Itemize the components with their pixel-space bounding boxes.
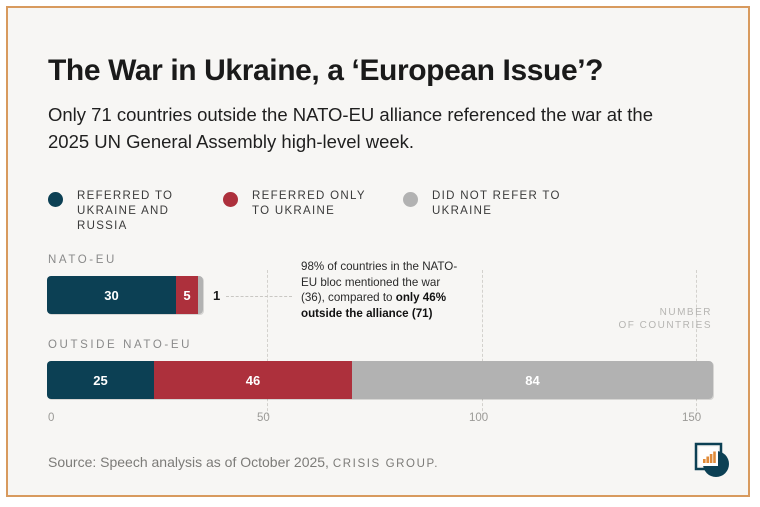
source-brand: Crisis Group. [333,458,439,470]
source-note: Source: Speech analysis as of October 20… [48,454,439,470]
source-text: Source: Speech analysis as of October 20… [48,454,329,470]
axis-tick-50: 50 [257,412,270,424]
annotation-line-1: 98% of countries in the [301,260,419,273]
axis-title-line-1: Number [618,306,712,319]
bar-segment-referred-ukraine-russia: 25 [47,361,154,399]
axis-tick-150: 150 [682,412,701,424]
infographic-frame: The War in Ukraine, a ‘European Issue’? … [6,6,750,497]
bar-row-label-outside-nato-eu: Outside NATO-EU [48,339,192,351]
annotation-bold-2: alliance (71) [366,307,432,320]
bar-segment-referred-ukraine-russia: 30 [47,276,176,314]
axis-tick-0: 0 [48,412,54,424]
bar-row-outside-nato-eu: 25 46 84 [47,361,713,399]
bar-row-label-nato-eu: NATO-EU [48,254,117,266]
axis-title-number-of-countries: Number of countries [618,306,712,332]
bar-segment-did-not-refer [198,276,203,314]
bar-segment-referred-only-ukraine: 46 [154,361,352,399]
axis-title-line-2: of countries [618,319,712,332]
stacked-bar-chart: NATO-EU 30 5 1 98% of countries in the N… [8,8,752,499]
annotation-leader-line [226,296,292,297]
bar-segment-did-not-refer: 84 [352,361,713,399]
axis-tick-100: 100 [469,412,488,424]
bar-segment-referred-only-ukraine: 5 [176,276,198,314]
crisis-group-logo-icon [694,442,730,478]
chart-annotation: 98% of countries in the NATO-EU bloc men… [301,259,461,321]
bar-row-nato-eu: 30 5 [47,276,203,314]
bar-value-label-nato-eu-gray: 1 [213,288,220,303]
